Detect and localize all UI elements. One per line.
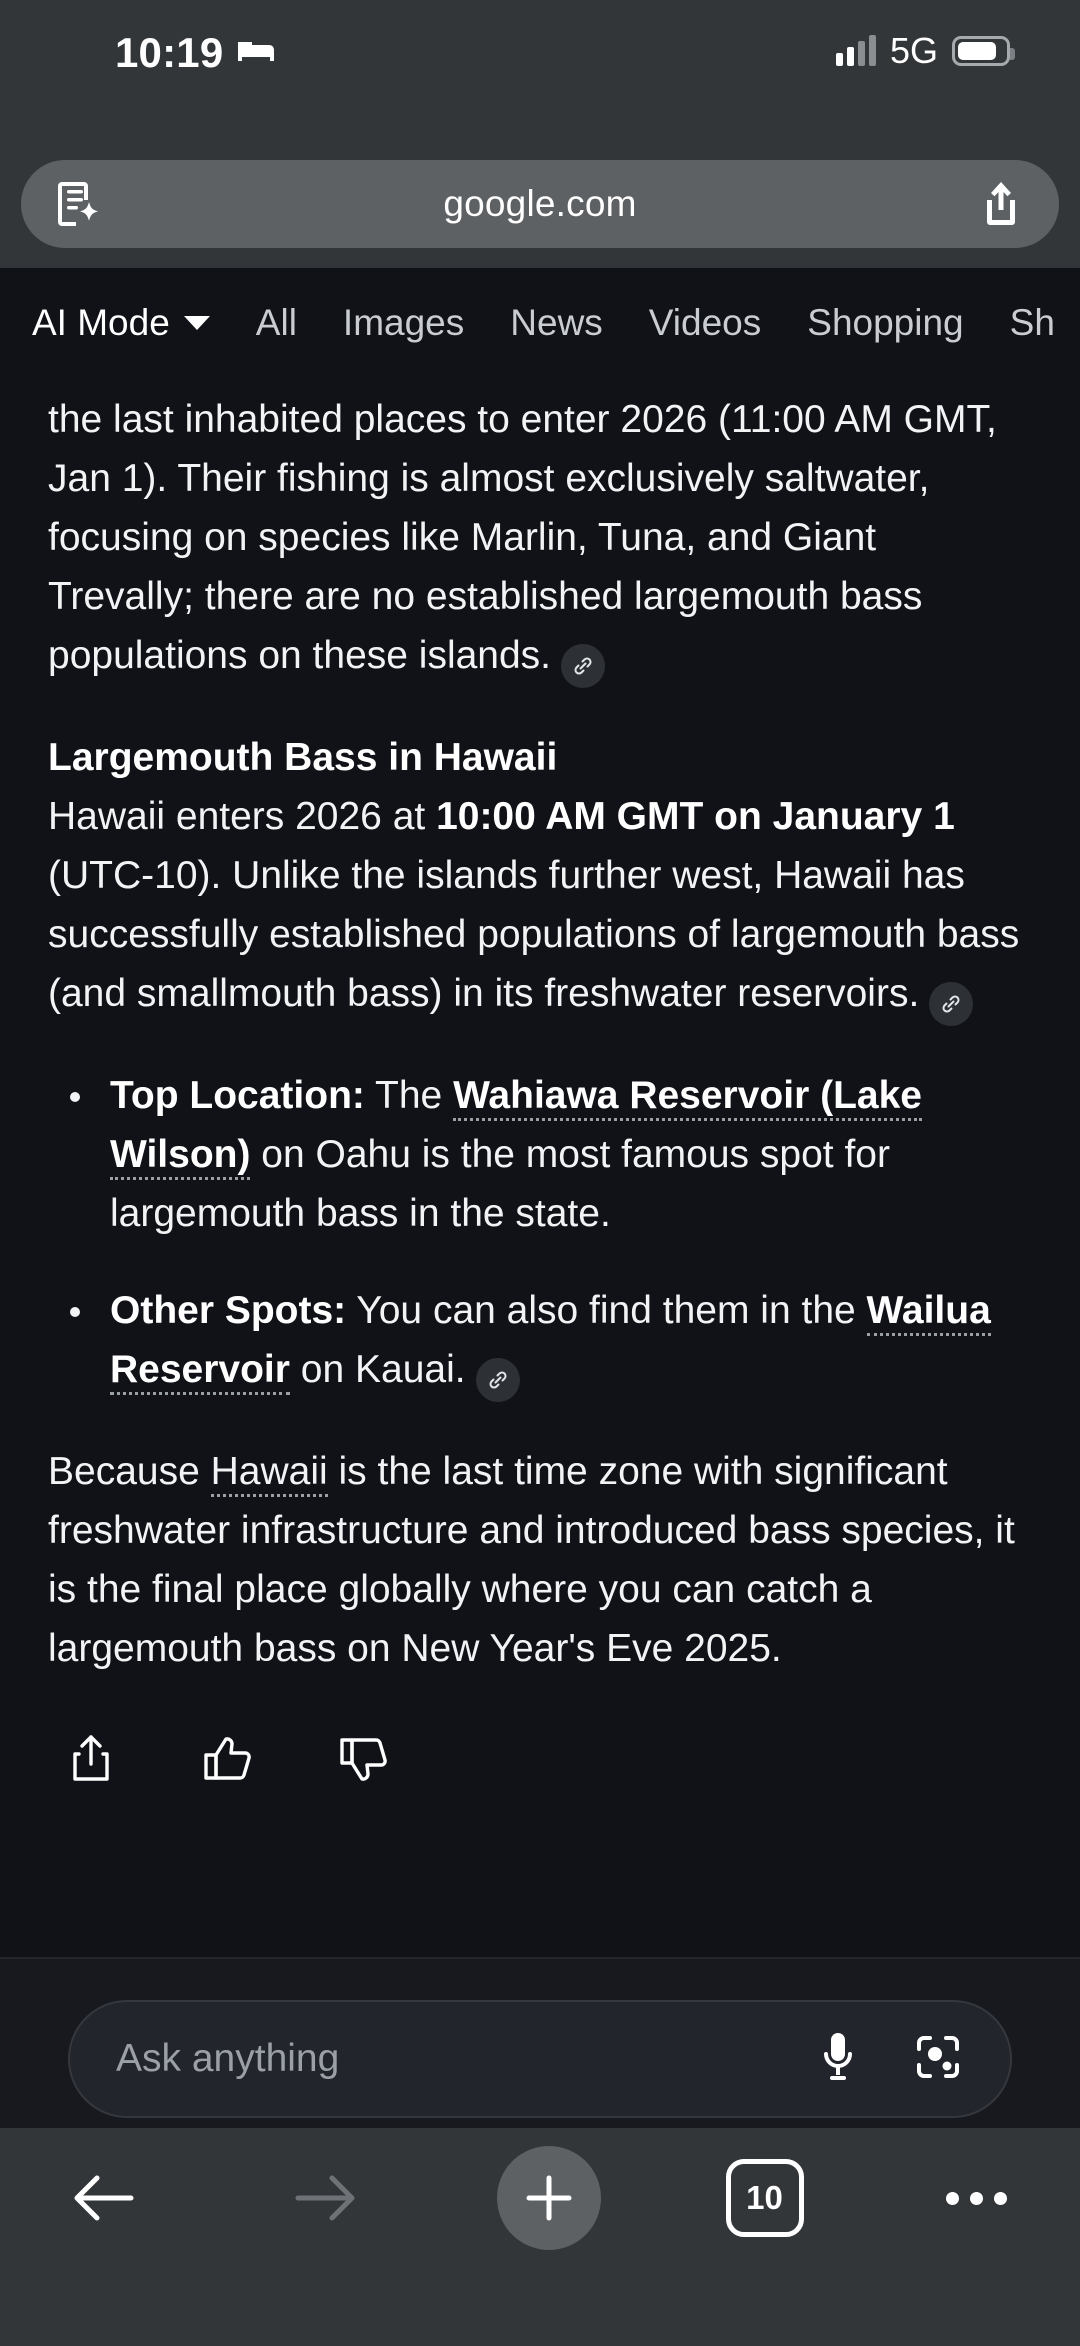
answer-paragraph-2: Largemouth Bass in Hawaii Hawaii enters … — [48, 728, 1032, 1026]
more-horizontal-icon[interactable] — [928, 2150, 1024, 2246]
bullet-2-text-b: on Kauai. — [290, 1348, 466, 1391]
tab-count-button[interactable]: 10 — [726, 2159, 804, 2237]
answer-paragraph-2-text-a: Hawaii enters 2026 at — [48, 795, 436, 838]
bullet-1-label: Top Location: — [110, 1074, 365, 1117]
tab-shopping-label: Shopping — [807, 302, 963, 344]
answer-bullet-list: Top Location: The Wahiawa Reservoir (Lak… — [48, 1066, 1032, 1402]
ask-input-placeholder[interactable]: Ask anything — [116, 2037, 816, 2081]
answer-paragraph-3-text-a: Because — [48, 1450, 211, 1493]
thumbs-up-icon[interactable] — [198, 1730, 256, 1788]
chevron-down-icon[interactable] — [184, 316, 210, 330]
bullet-2-text-a: You can also find them in the — [346, 1289, 866, 1332]
tab-images[interactable]: Images — [320, 302, 487, 344]
link-icon[interactable] — [929, 982, 973, 1026]
tab-ai-mode[interactable]: AI Mode — [32, 302, 233, 344]
link-icon[interactable] — [476, 1358, 520, 1402]
answer-paragraph-1: the last inhabited places to enter 2026 … — [48, 390, 1032, 688]
ask-bar-icons — [816, 2029, 964, 2090]
network-type-label: 5G — [890, 33, 938, 69]
reader-sparkle-icon[interactable] — [51, 178, 107, 230]
microphone-icon[interactable] — [816, 2029, 860, 2090]
bullet-2-label: Other Spots: — [110, 1289, 346, 1332]
tab-ai-mode-label: AI Mode — [32, 302, 170, 344]
ask-anything-input[interactable]: Ask anything — [68, 2000, 1012, 2118]
plus-icon[interactable] — [497, 2146, 601, 2250]
answer-paragraph-2-bold: 10:00 AM GMT on January 1 — [436, 795, 955, 838]
tab-news-label: News — [510, 302, 603, 344]
tab-short-videos[interactable]: Sh — [987, 302, 1078, 344]
section-heading: Largemouth Bass in Hawaii — [48, 736, 557, 779]
status-bar: 10:19 5G — [0, 0, 1080, 110]
tab-short-videos-label: Sh — [1010, 302, 1055, 344]
address-bar[interactable]: google.com — [21, 160, 1059, 248]
tab-all[interactable]: All — [233, 302, 320, 344]
thumbs-down-icon[interactable] — [334, 1730, 392, 1788]
signal-bars-icon — [836, 36, 876, 66]
share-icon[interactable] — [62, 1730, 120, 1788]
address-bar-url[interactable]: google.com — [107, 183, 973, 225]
tab-images-label: Images — [343, 302, 464, 344]
link-icon[interactable] — [561, 644, 605, 688]
answer-paragraph-3-entity-link[interactable]: Hawaii — [211, 1450, 328, 1497]
answer-paragraph-1-text: the last inhabited places to enter 2026 … — [48, 398, 997, 677]
search-vertical-tabs[interactable]: AI Mode All Images News Videos Shopping … — [0, 268, 1080, 378]
arrow-right-icon — [277, 2150, 373, 2246]
browser-bottom-toolbar: 10 — [0, 2128, 1080, 2346]
status-bar-right: 5G — [836, 33, 1010, 69]
ai-mode-answer: the last inhabited places to enter 2026 … — [0, 378, 1080, 1958]
google-lens-icon[interactable] — [912, 2031, 964, 2088]
tab-news[interactable]: News — [487, 302, 626, 344]
tab-shopping[interactable]: Shopping — [784, 302, 986, 344]
bullet-1-text-a: The — [365, 1074, 453, 1117]
list-item: Top Location: The Wahiawa Reservoir (Lak… — [48, 1066, 1032, 1243]
arrow-left-icon[interactable] — [56, 2150, 152, 2246]
tab-videos-label: Videos — [649, 302, 761, 344]
status-bar-left: 10:19 — [115, 32, 276, 74]
tab-count-label: 10 — [746, 2179, 783, 2217]
tab-all-label: All — [256, 302, 297, 344]
share-icon[interactable] — [973, 179, 1029, 229]
bed-icon — [236, 36, 276, 71]
tab-videos[interactable]: Videos — [626, 302, 784, 344]
answer-paragraph-2-text-b: (UTC-10). Unlike the islands further wes… — [48, 854, 1019, 1015]
status-bar-clock: 10:19 — [115, 32, 223, 74]
answer-paragraph-3: Because Hawaii is the last time zone wit… — [48, 1442, 1032, 1678]
answer-actions — [48, 1730, 1032, 1788]
battery-icon — [952, 36, 1010, 66]
list-item: Other Spots: You can also find them in t… — [48, 1281, 1032, 1402]
phone-screen: 10:19 5G — [0, 0, 1080, 2346]
browser-top-chrome: 10:19 5G — [0, 0, 1080, 268]
